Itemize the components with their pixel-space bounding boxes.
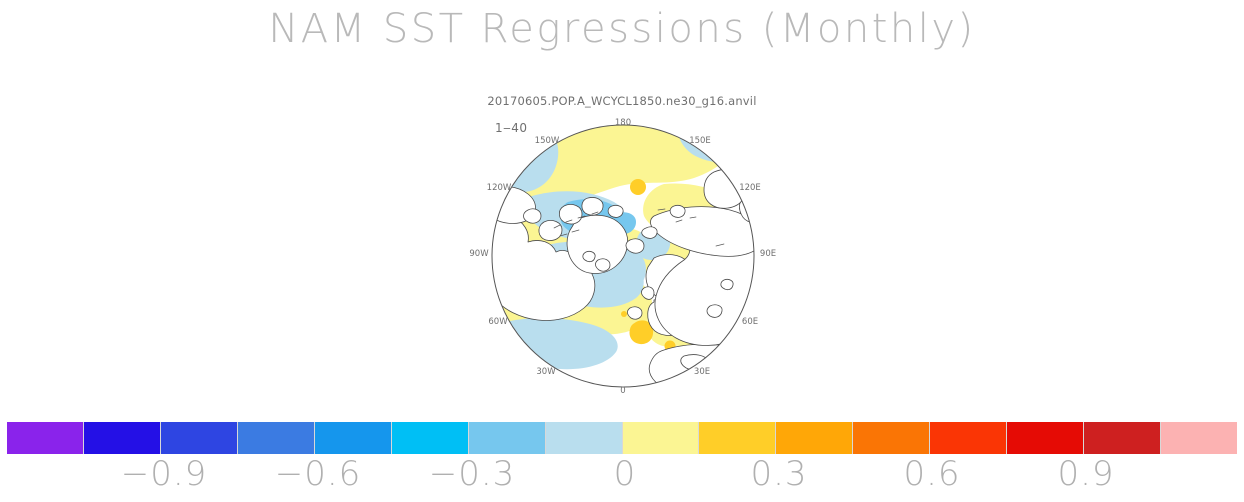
colorbar-cell-6 <box>469 422 546 454</box>
colorbar-tick-0.6: 0.6 <box>903 454 960 494</box>
colorbar-tick-labels: −0.9−0.6−0.300.30.60.9 <box>0 454 1244 500</box>
colorbar-cell-4 <box>315 422 392 454</box>
colorbar-cell-9 <box>699 422 776 454</box>
colorbar-cell-0 <box>7 422 84 454</box>
colorbar-tick-0.3: 0.3 <box>750 454 807 494</box>
colorbar-cell-3 <box>238 422 315 454</box>
page-title: NAM SST Regressions (Monthly) <box>0 6 1244 52</box>
colorbar-cell-13 <box>1007 422 1084 454</box>
colorbar-cell-14 <box>1084 422 1161 454</box>
colorbar-cell-8 <box>623 422 700 454</box>
polar-stereographic-map <box>468 110 780 400</box>
colorbar-cell-12 <box>930 422 1007 454</box>
colorbar-tick-0.9: 0.9 <box>1057 454 1114 494</box>
colorbar-tick-0: 0 <box>614 454 637 494</box>
colorbar-tick--0.3: −0.3 <box>429 454 516 494</box>
case-name-label: 20170605.POP.A_WCYCL1850.ne30_g16.anvil <box>0 94 1244 108</box>
colorbar-cell-10 <box>776 422 853 454</box>
colorbar-tick--0.9: −0.9 <box>121 454 208 494</box>
polar-map-panel <box>468 110 780 400</box>
colorbar-cell-2 <box>161 422 238 454</box>
colorbar-cell-1 <box>84 422 161 454</box>
colorbar-cell-11 <box>853 422 930 454</box>
colorbar-cell-15 <box>1161 422 1237 454</box>
colorbar-cell-7 <box>546 422 623 454</box>
colorbar <box>7 422 1237 454</box>
colorbar-cell-5 <box>392 422 469 454</box>
colorbar-tick--0.6: −0.6 <box>275 454 362 494</box>
